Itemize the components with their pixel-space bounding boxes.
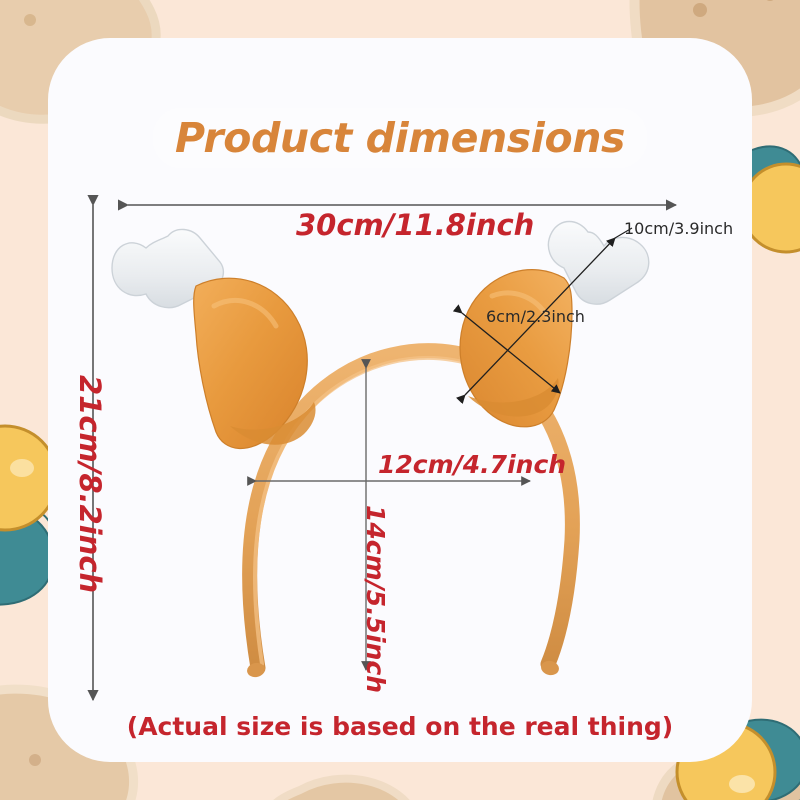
disclaimer-caption: (Actual size is based on the real thing) (0, 712, 800, 741)
drumstick-width-label: 6cm/2.3inch (486, 309, 585, 325)
arch-height-label: 14cm/5.5inch (363, 505, 388, 693)
overall-height-label: 21cm/8.2inch (75, 375, 104, 593)
drumstick-length-label: 10cm/3.9inch (624, 221, 733, 237)
infographic-canvas: Product dimensions (0, 0, 800, 800)
dimension-arrows (0, 0, 800, 800)
arch-width-label: 12cm/4.7inch (378, 452, 566, 477)
overall-width-label: 30cm/11.8inch (296, 211, 534, 240)
